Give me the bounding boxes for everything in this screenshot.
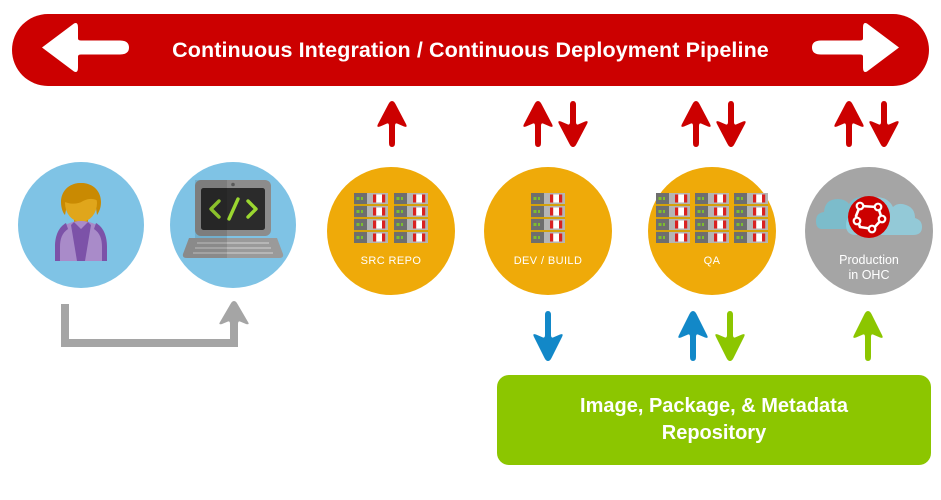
banner-title: Continuous Integration / Continuous Depl…	[172, 38, 769, 63]
person-icon	[41, 177, 121, 266]
repo-arrow-production-up	[851, 310, 885, 367]
diagram-canvas: Continuous Integration / Continuous Depl…	[0, 0, 941, 500]
cloud-openshift-icon	[816, 175, 922, 246]
repository-box[interactable]: Image, Package, & Metadata Repository	[497, 375, 931, 465]
stage-src-repo[interactable]: SRC REPO	[327, 167, 455, 295]
pipeline-arrow-production-up	[832, 100, 866, 153]
pipeline-banner: Continuous Integration / Continuous Depl…	[12, 14, 929, 86]
pipeline-arrow-dev-build-up	[521, 100, 555, 153]
laptop-code-icon	[181, 176, 285, 267]
pipeline-arrow-src-repo-up	[375, 100, 409, 153]
repo-arrow-dev-build-down	[531, 310, 565, 367]
server-rack-icon	[656, 193, 768, 248]
arrow-right-icon	[811, 20, 901, 81]
stage-label-dev-build: DEV / BUILD	[514, 255, 583, 268]
repo-arrow-qa-down	[713, 310, 747, 367]
connector-developer-to-workstation	[58, 300, 253, 360]
pipeline-arrow-qa-up	[679, 100, 713, 153]
stage-label-src-repo: SRC REPO	[361, 255, 422, 268]
stage-developer[interactable]	[18, 162, 144, 288]
server-rack-icon	[354, 193, 428, 248]
repo-arrow-qa-up	[676, 310, 710, 367]
stage-qa[interactable]: QA	[648, 167, 776, 295]
arrow-left-icon	[40, 20, 130, 81]
pipeline-arrow-production-down	[867, 100, 901, 153]
stage-dev-build[interactable]: DEV / BUILD	[484, 167, 612, 295]
stage-label-qa: QA	[704, 255, 721, 268]
pipeline-arrow-qa-down	[714, 100, 748, 153]
stage-workstation[interactable]	[170, 162, 296, 288]
pipeline-arrow-dev-build-down	[556, 100, 590, 153]
stage-production[interactable]: Production in OHC	[805, 167, 933, 295]
stage-label-production: Production in OHC	[839, 253, 899, 284]
server-rack-icon	[531, 193, 565, 248]
repository-label: Image, Package, & Metadata Repository	[580, 393, 848, 446]
